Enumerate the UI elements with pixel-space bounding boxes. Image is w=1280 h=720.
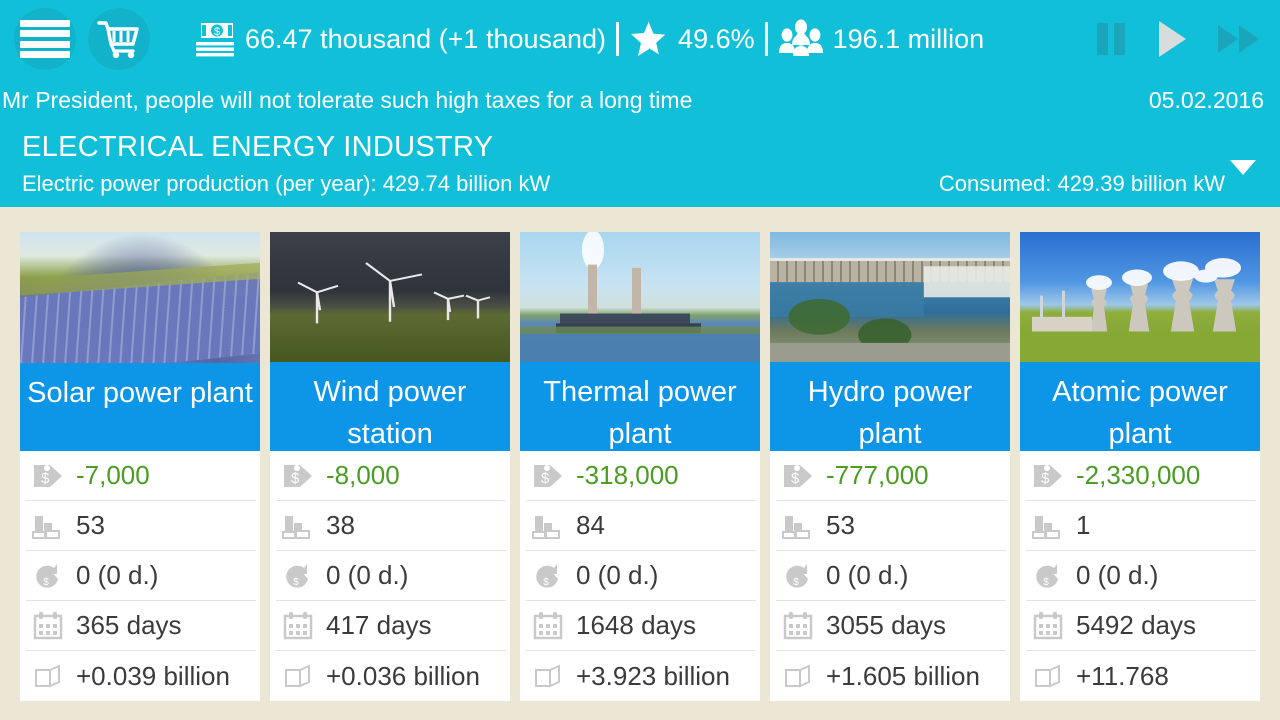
card-hydro-power-plant[interactable]: Hydro power plant $ -777,000 53 $ 0 (0 d…	[770, 212, 1010, 701]
page-title: ELECTRICAL ENERGY INDUSTRY	[0, 126, 1280, 171]
population-value: 196.1 million	[833, 24, 985, 55]
stat-count: 53	[26, 501, 256, 551]
stat-output-value: +3.923 billion	[576, 661, 730, 692]
calendar-icon	[1028, 611, 1068, 641]
card-title: Hydro power plant	[770, 362, 1010, 451]
consumed-label: Consumed: 429.39 billion kW	[939, 171, 1225, 197]
stat-output: +1.605 billion	[776, 651, 1006, 701]
card-title: Solar power plant	[20, 363, 260, 451]
money-stat: $ 66.47 thousand (+1 thousand)	[192, 19, 606, 59]
stat-payback: $ 0 (0 d.)	[26, 551, 256, 601]
stat-output-value: +0.039 billion	[76, 661, 230, 692]
speed-controls	[1094, 0, 1262, 78]
hydroelectric-dam-photo	[770, 232, 1010, 362]
stat-output-value: +1.605 billion	[826, 661, 980, 692]
price-tag-icon: $	[28, 461, 68, 491]
calendar-icon	[528, 611, 568, 641]
people-icon	[778, 19, 824, 59]
stat-cost-value: -777,000	[826, 460, 929, 491]
money-value: 66.47 thousand (+1 thousand)	[245, 24, 606, 55]
card-stats: $ -7,000 53 $ 0 (0 d.) 365 days	[20, 451, 260, 701]
stat-cost-value: -318,000	[576, 460, 679, 491]
pause-button[interactable]	[1094, 19, 1128, 59]
stat-payback: $ 0 (0 d.)	[276, 551, 506, 601]
stat-build-time: 365 days	[26, 601, 256, 651]
card-stats: $ -318,000 84 $ 0 (0 d.) 1648 d	[520, 451, 760, 701]
stat-cost: $ -777,000	[776, 451, 1006, 501]
fast-forward-button[interactable]	[1216, 19, 1262, 59]
document-icon	[278, 661, 318, 691]
stat-build-time-value: 1648 days	[576, 610, 696, 641]
stat-cost: $ -2,330,000	[1026, 451, 1256, 501]
stat-payback: $ 0 (0 d.)	[776, 551, 1006, 601]
pause-icon	[1094, 19, 1128, 59]
factory-icon	[28, 511, 68, 541]
advisor-message: Mr President, people will not tolerate s…	[2, 87, 692, 114]
nuclear-cooling-towers-photo	[1020, 232, 1260, 362]
document-icon	[778, 661, 818, 691]
stat-payback-value: 0 (0 d.)	[1076, 560, 1158, 591]
document-icon	[28, 661, 68, 691]
stat-payback-value: 0 (0 d.)	[826, 560, 908, 591]
thermal-plant-smokestacks-photo	[520, 232, 760, 362]
svg-text:$: $	[43, 577, 49, 588]
stat-build-time: 3055 days	[776, 601, 1006, 651]
stat-count-value: 53	[826, 510, 855, 541]
stat-build-time-value: 5492 days	[1076, 610, 1196, 641]
card-stats: $ -777,000 53 $ 0 (0 d.) 3055 d	[770, 451, 1010, 701]
svg-text:$: $	[793, 577, 799, 588]
rating-value: 49.6%	[678, 24, 755, 55]
game-date: 05.02.2016	[1149, 87, 1264, 114]
play-button[interactable]	[1154, 18, 1190, 60]
card-stats: $ -8,000 38 $ 0 (0 d.) 417 days	[270, 451, 510, 701]
stat-count: 53	[776, 501, 1006, 551]
stat-payback: $ 0 (0 d.)	[1026, 551, 1256, 601]
card-title: Atomic power plant	[1020, 362, 1260, 451]
card-thermal-power-plant[interactable]: Thermal power plant $ -318,000 84 $ 0 (0…	[520, 212, 760, 701]
stat-build-time: 417 days	[276, 601, 506, 651]
factory-icon	[778, 511, 818, 541]
stat-output: +0.036 billion	[276, 651, 506, 701]
section-subrow: Electric power production (per year): 42…	[0, 171, 1280, 207]
money-return-icon: $	[278, 561, 318, 591]
card-solar-power-plant[interactable]: Solar power plant $ -7,000 53 $ 0 (0 d.)	[20, 212, 260, 701]
stat-cost-value: -2,330,000	[1076, 460, 1200, 491]
money-return-icon: $	[778, 561, 818, 591]
menu-button[interactable]	[14, 8, 76, 70]
stat-build-time: 1648 days	[526, 601, 756, 651]
stat-output: +11.768	[1026, 651, 1256, 701]
top-bar: $ 66.47 thousand (+1 thousand) 49.6%	[0, 0, 1280, 78]
stat-output-value: +0.036 billion	[326, 661, 480, 692]
stat-count-value: 1	[1076, 510, 1090, 541]
banknote-icon: $	[192, 19, 236, 59]
card-wind-power-station[interactable]: Wind power station $ -8,000 38 $ 0 (0 d.…	[270, 212, 510, 701]
fast-forward-icon	[1216, 19, 1262, 59]
stat-count: 1	[1026, 501, 1256, 551]
rating-stat: 49.6%	[629, 19, 755, 59]
message-bar: Mr President, people will not tolerate s…	[0, 78, 1280, 122]
svg-text:$: $	[291, 470, 300, 487]
card-atomic-power-plant[interactable]: Atomic power plant $ -2,330,000 1 $ 0 (0…	[1020, 212, 1260, 701]
stat-cost: $ -7,000	[26, 451, 256, 501]
stat-cost-value: -8,000	[326, 460, 400, 491]
solar-panel-field-photo	[20, 232, 260, 363]
power-plant-grid: Solar power plant $ -7,000 53 $ 0 (0 d.)	[0, 207, 1280, 701]
shop-button[interactable]	[88, 8, 150, 70]
svg-text:$: $	[543, 577, 549, 588]
document-icon	[1028, 661, 1068, 691]
wind-turbines-photo	[270, 232, 510, 362]
money-return-icon: $	[528, 561, 568, 591]
card-title: Thermal power plant	[520, 362, 760, 451]
price-tag-icon: $	[778, 461, 818, 491]
production-label: Electric power production (per year): 42…	[22, 171, 550, 197]
stat-payback: $ 0 (0 d.)	[526, 551, 756, 601]
section-header: ELECTRICAL ENERGY INDUSTRY Electric powe…	[0, 122, 1280, 207]
calendar-icon	[278, 611, 318, 641]
svg-text:$: $	[1041, 470, 1050, 487]
factory-icon	[1028, 511, 1068, 541]
shopping-cart-icon	[97, 19, 141, 59]
status-stats: $ 66.47 thousand (+1 thousand) 49.6%	[192, 19, 984, 59]
stat-cost: $ -8,000	[276, 451, 506, 501]
price-tag-icon: $	[1028, 461, 1068, 491]
svg-text:$: $	[541, 470, 550, 487]
stat-cost: $ -318,000	[526, 451, 756, 501]
calendar-icon	[28, 611, 68, 641]
stat-count-value: 53	[76, 510, 105, 541]
stat-count: 84	[526, 501, 756, 551]
chevron-down-icon[interactable]	[1230, 160, 1256, 175]
play-icon	[1154, 18, 1190, 60]
stat-output-value: +11.768	[1076, 661, 1169, 692]
money-return-icon: $	[1028, 561, 1068, 591]
stat-count: 38	[276, 501, 506, 551]
card-title: Wind power station	[270, 362, 510, 451]
price-tag-icon: $	[278, 461, 318, 491]
stat-build-time: 5492 days	[1026, 601, 1256, 651]
svg-text:$: $	[214, 26, 220, 38]
stat-payback-value: 0 (0 d.)	[326, 560, 408, 591]
star-icon	[629, 19, 669, 59]
factory-icon	[278, 511, 318, 541]
stat-divider	[616, 22, 619, 56]
stat-output: +3.923 billion	[526, 651, 756, 701]
stat-payback-value: 0 (0 d.)	[576, 560, 658, 591]
svg-text:$: $	[41, 470, 50, 487]
stat-payback-value: 0 (0 d.)	[76, 560, 158, 591]
card-stats: $ -2,330,000 1 $ 0 (0 d.) 5492	[1020, 451, 1260, 701]
svg-text:$: $	[293, 577, 299, 588]
stat-cost-value: -7,000	[76, 460, 150, 491]
calendar-icon	[778, 611, 818, 641]
hamburger-icon	[20, 20, 70, 58]
stat-divider-2	[765, 22, 768, 56]
svg-text:$: $	[1043, 577, 1049, 588]
money-return-icon: $	[28, 561, 68, 591]
stat-count-value: 38	[326, 510, 355, 541]
price-tag-icon: $	[528, 461, 568, 491]
factory-icon	[528, 511, 568, 541]
document-icon	[528, 661, 568, 691]
stat-output: +0.039 billion	[26, 651, 256, 701]
stat-build-time-value: 3055 days	[826, 610, 946, 641]
population-stat: 196.1 million	[778, 19, 985, 59]
svg-text:$: $	[791, 470, 800, 487]
stat-count-value: 84	[576, 510, 605, 541]
stat-build-time-value: 365 days	[76, 610, 182, 641]
stat-build-time-value: 417 days	[326, 610, 432, 641]
